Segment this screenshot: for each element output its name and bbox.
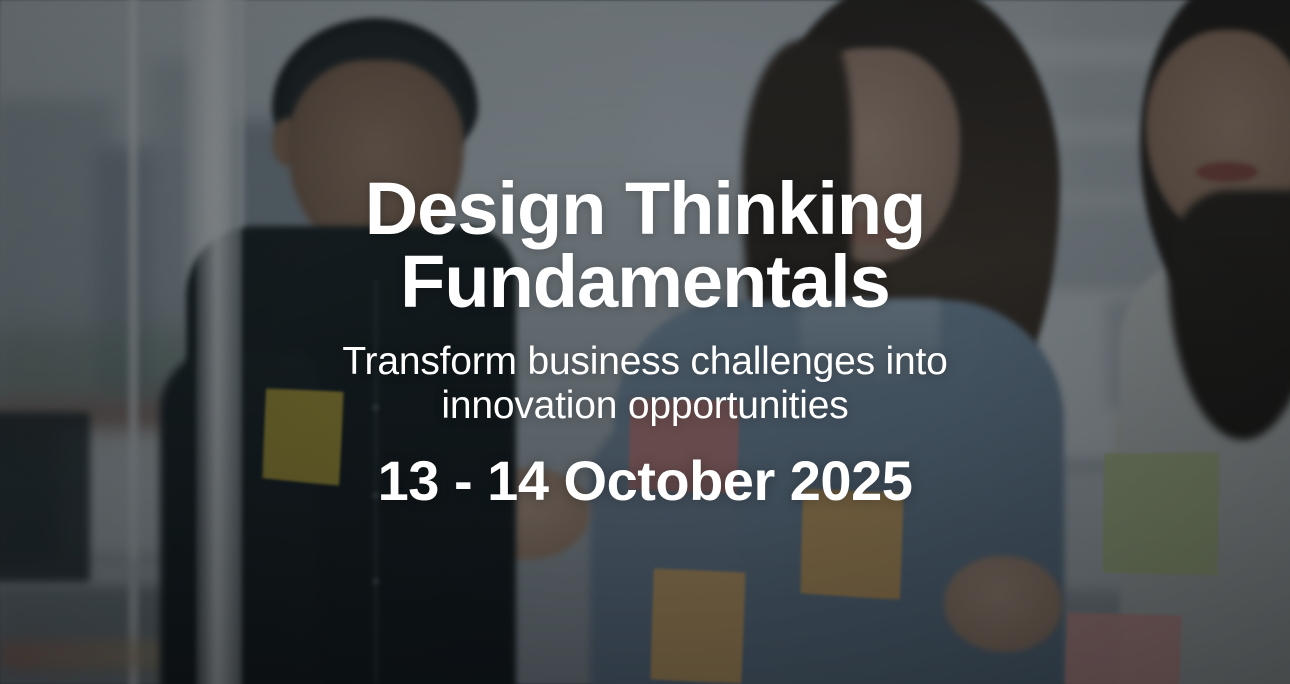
event-title: Design Thinking Fundamentals: [325, 173, 966, 318]
event-subtitle: Transform business challenges into innov…: [302, 340, 987, 427]
event-subtitle-line-2: innovation opportunities: [342, 384, 947, 428]
event-hero-banner: Design Thinking Fundamentals Transform b…: [0, 0, 1290, 684]
event-title-line-2: Fundamentals: [365, 246, 926, 319]
event-date: 13 - 14 October 2025: [378, 452, 913, 511]
event-title-line-1: Design Thinking: [365, 167, 926, 250]
banner-content: Design Thinking Fundamentals Transform b…: [0, 0, 1290, 684]
event-subtitle-line-1: Transform business challenges into: [342, 340, 947, 384]
